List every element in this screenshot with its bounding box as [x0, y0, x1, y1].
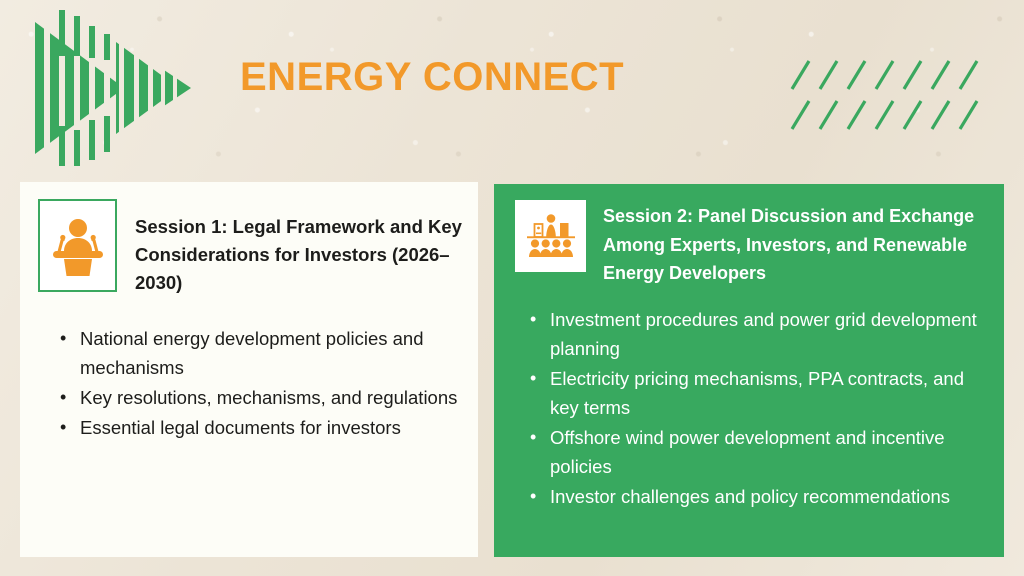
list-item: National energy development policies and… [60, 324, 460, 382]
diagonal-slashes-decoration [790, 57, 986, 135]
session-1-header: Session 1: Legal Framework and Key Consi… [20, 182, 478, 297]
session-1-bullet-list: National energy development policies and… [60, 324, 460, 442]
speaker-at-podium-icon [38, 199, 117, 292]
session-2-card: Session 2: Panel Discussion and Exchange… [494, 184, 1004, 557]
session-2-title: Session 2: Panel Discussion and Exchange… [603, 202, 990, 288]
presentation-slide: ENERGY CONNECT [0, 0, 1024, 576]
panel-discussion-audience-icon [515, 200, 586, 272]
session-2-bullet-list: Investment procedures and power grid dev… [530, 305, 990, 511]
fast-forward-triangles-logo [24, 8, 200, 168]
session-1-card: Session 1: Legal Framework and Key Consi… [20, 182, 478, 557]
list-item: Offshore wind power development and ince… [530, 423, 990, 481]
session-2-header: Session 2: Panel Discussion and Exchange… [494, 184, 1004, 288]
list-item: Investment procedures and power grid dev… [530, 305, 990, 363]
list-item: Essential legal documents for investors [60, 413, 460, 442]
page-title: ENERGY CONNECT [240, 57, 624, 97]
list-item: Electricity pricing mechanisms, PPA cont… [530, 364, 990, 422]
list-item: Key resolutions, mechanisms, and regulat… [60, 383, 460, 412]
list-item: Investor challenges and policy recommend… [530, 482, 990, 511]
slide-header: ENERGY CONNECT [0, 0, 1024, 182]
session-1-title: Session 1: Legal Framework and Key Consi… [135, 213, 462, 297]
